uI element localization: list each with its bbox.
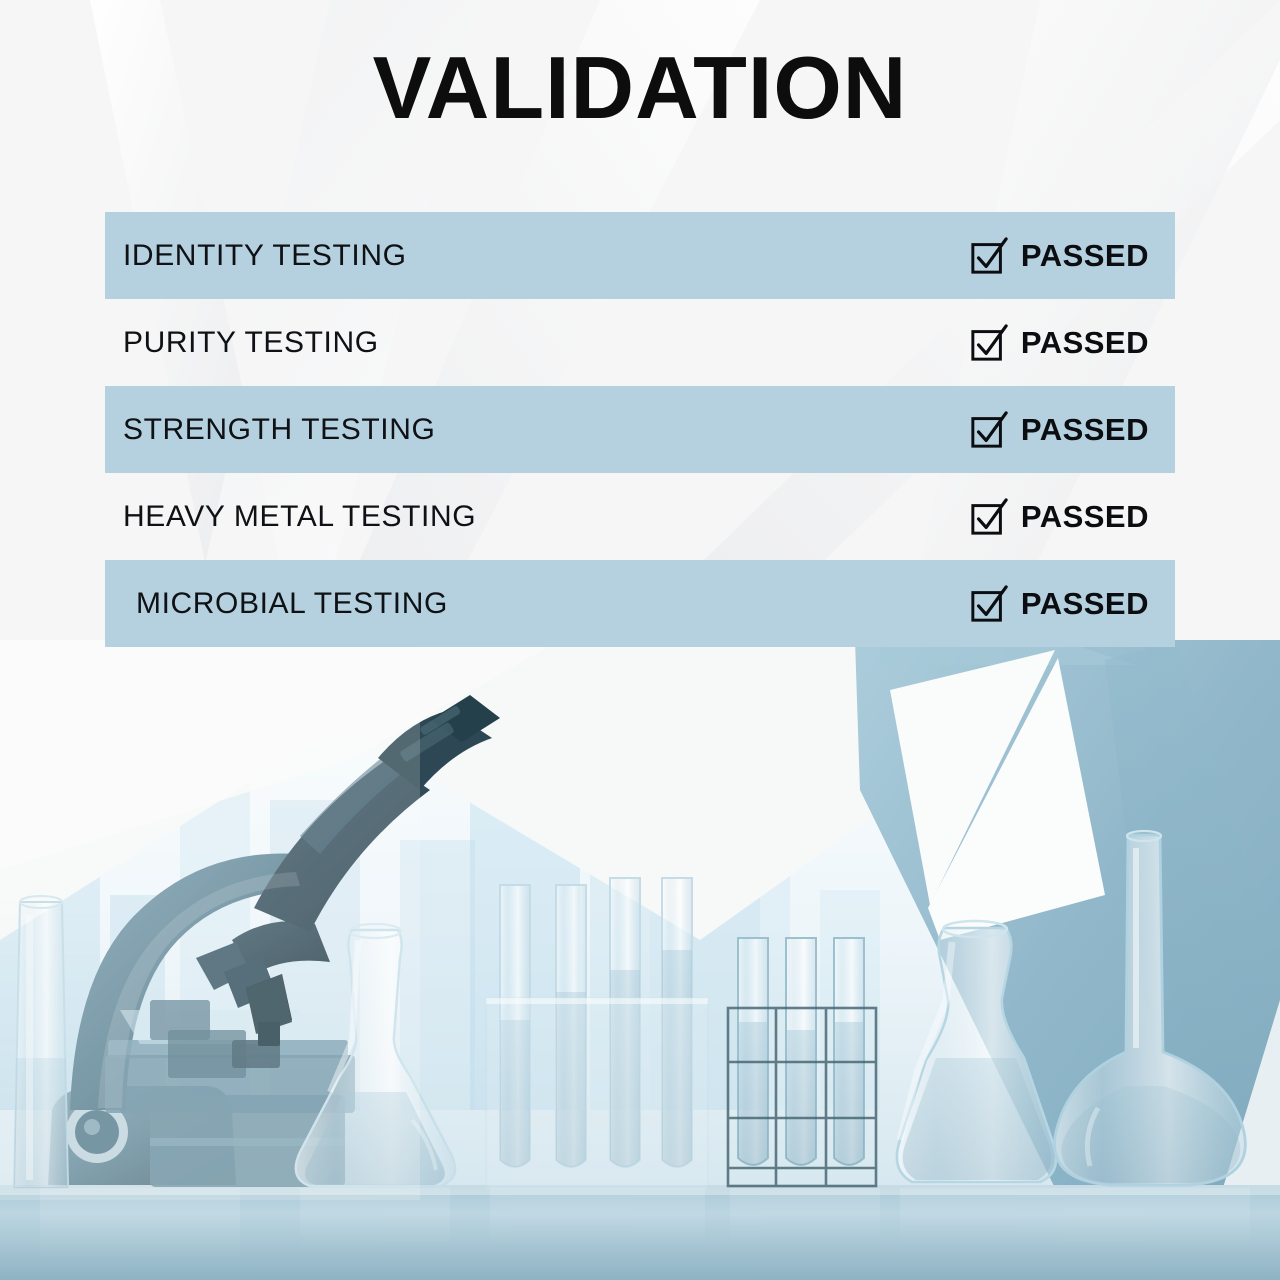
poster-canvas: VALIDATION IDENTITY TESTING PASSED PURIT…	[0, 0, 1280, 1280]
checkbox-checked-icon[interactable]	[970, 237, 1008, 275]
status-badge: PASSED	[1021, 586, 1149, 622]
status-badge: PASSED	[1021, 499, 1149, 535]
laboratory-equipment-photo	[0, 640, 1280, 1280]
status-group: PASSED	[970, 411, 1175, 449]
status-badge: PASSED	[1021, 325, 1149, 361]
status-group: PASSED	[970, 498, 1175, 536]
checkbox-checked-icon[interactable]	[970, 585, 1008, 623]
status-group: PASSED	[970, 324, 1175, 362]
checklist-row[interactable]: MICROBIAL TESTING PASSED	[105, 560, 1175, 647]
status-group: PASSED	[970, 585, 1175, 623]
test-name-label: MICROBIAL TESTING	[123, 587, 448, 621]
checkbox-checked-icon[interactable]	[970, 411, 1008, 449]
light-wash	[0, 640, 420, 1200]
tube-holder	[486, 998, 708, 1190]
test-name-label: IDENTITY TESTING	[123, 239, 407, 273]
checkbox-checked-icon[interactable]	[970, 498, 1008, 536]
test-name-label: PURITY TESTING	[123, 326, 379, 360]
checklist-row[interactable]: HEAVY METAL TESTING PASSED	[105, 473, 1175, 560]
test-tube	[834, 938, 864, 1165]
lab-scene-svg	[0, 640, 1280, 1280]
checklist-row[interactable]: PURITY TESTING PASSED	[105, 299, 1175, 386]
validation-checklist: IDENTITY TESTING PASSED PURITY TESTING	[105, 212, 1175, 647]
test-tube-rack-right	[728, 938, 876, 1186]
status-badge: PASSED	[1021, 238, 1149, 274]
test-name-label: HEAVY METAL TESTING	[123, 500, 476, 534]
status-group: PASSED	[970, 237, 1175, 275]
page-title: VALIDATION	[0, 44, 1280, 132]
checklist-row[interactable]: STRENGTH TESTING PASSED	[105, 386, 1175, 473]
test-tube	[738, 938, 768, 1165]
checklist-row[interactable]: IDENTITY TESTING PASSED	[105, 212, 1175, 299]
checkbox-checked-icon[interactable]	[970, 324, 1008, 362]
test-name-label: STRENGTH TESTING	[123, 413, 435, 447]
test-tube	[786, 938, 816, 1165]
status-badge: PASSED	[1021, 412, 1149, 448]
